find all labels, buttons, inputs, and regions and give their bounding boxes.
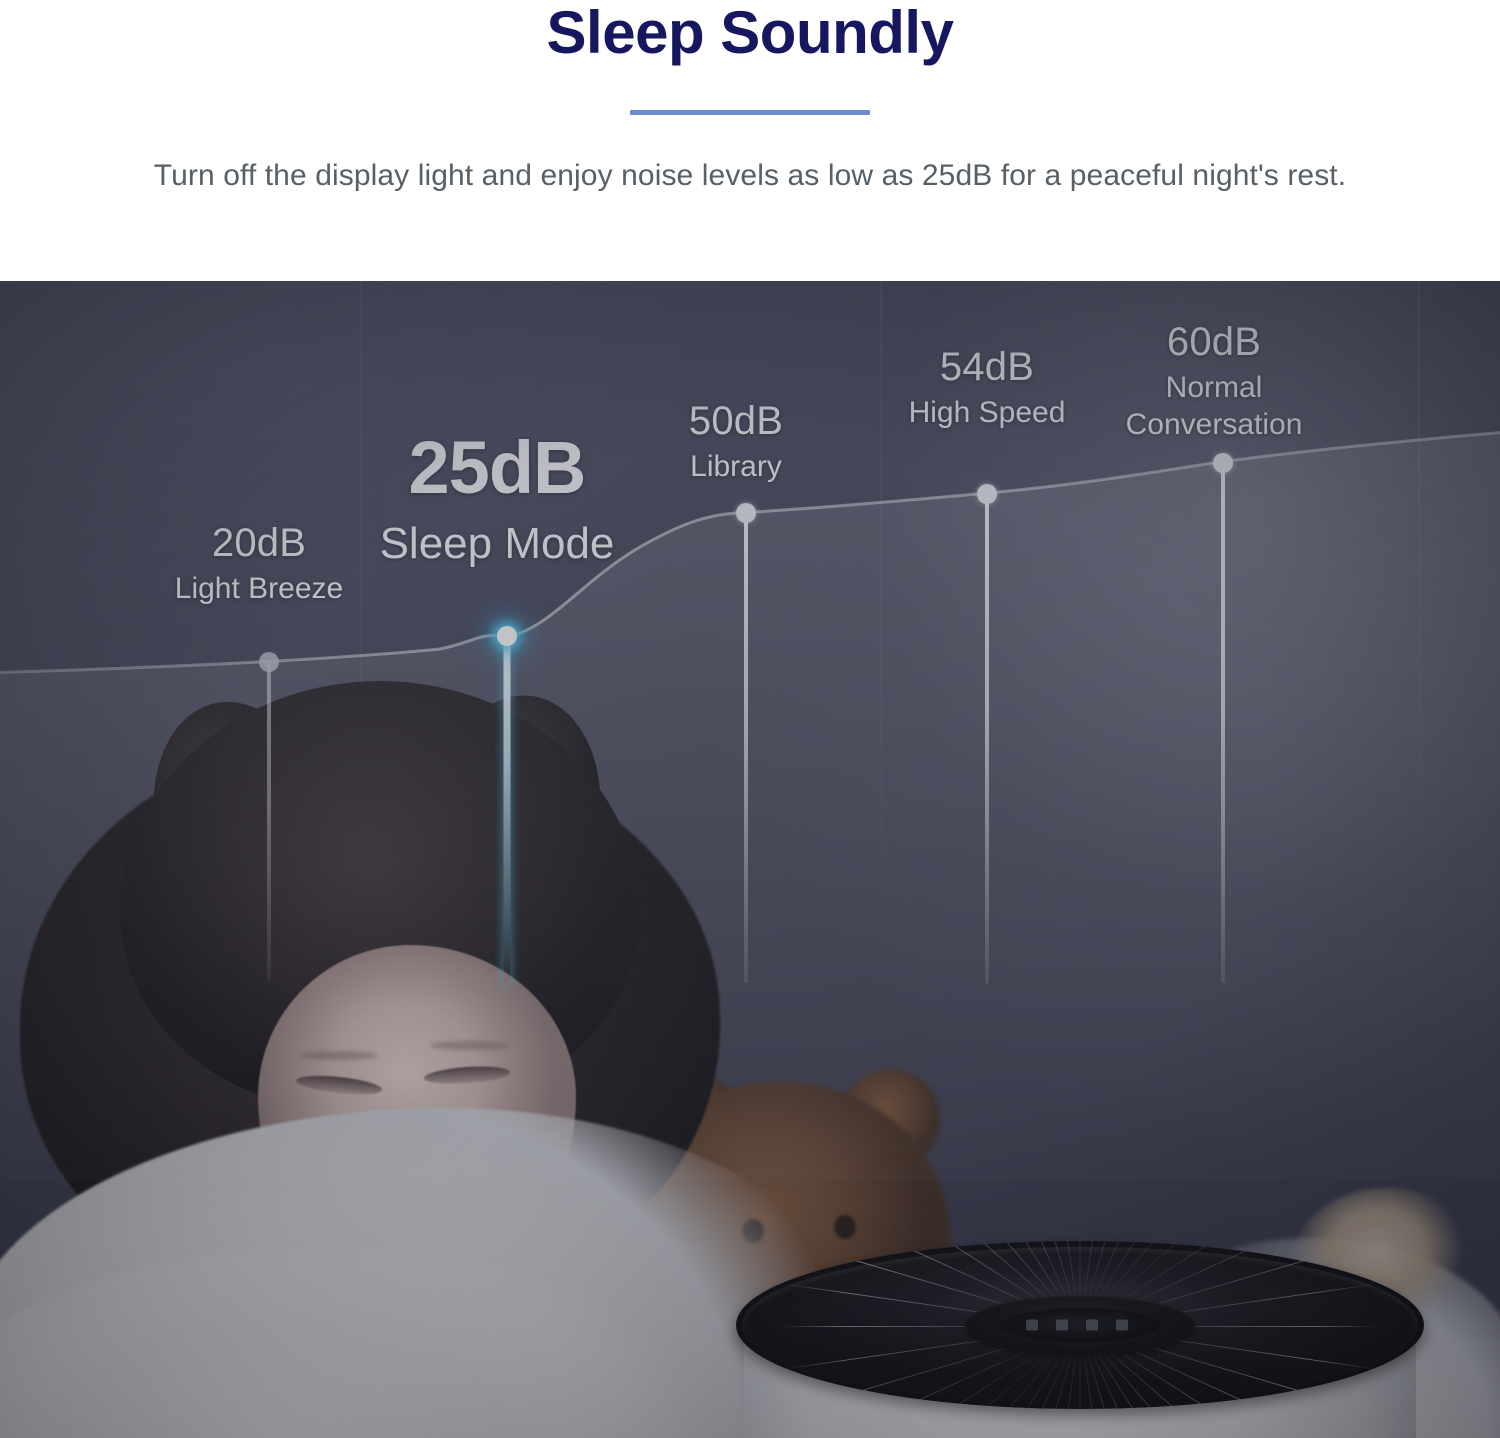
marker-25db-sleep-mode — [497, 636, 517, 986]
marker-50db — [736, 513, 756, 983]
baby-eyebrow-left — [300, 1051, 378, 1060]
teddy-bear-eye-right — [834, 1215, 856, 1239]
label-20db-value: 20dB — [159, 522, 359, 564]
purifier-control-panel — [965, 1295, 1195, 1355]
page-subtitle: Turn off the display light and enjoy noi… — [150, 152, 1350, 200]
air-purifier: levoit — [736, 1241, 1426, 1438]
marker-stem — [1221, 463, 1225, 983]
marker-stem-glow — [504, 636, 511, 986]
marker-stem — [267, 662, 271, 982]
label-60db-name: Normal Conversation — [1098, 370, 1330, 443]
marker-stem — [985, 494, 989, 984]
baby-eyebrow-right — [430, 1041, 508, 1050]
marker-dot — [259, 652, 279, 672]
label-50db-value: 50dB — [636, 400, 836, 442]
marker-dot — [736, 503, 756, 523]
filter-reset-icon[interactable] — [1116, 1320, 1128, 1331]
sleep-soundly-banner: Sleep Soundly Turn off the display light… — [0, 0, 1500, 1438]
purifier-top-vent — [736, 1241, 1424, 1409]
label-25db-name: Sleep Mode — [337, 517, 657, 571]
marker-dot — [977, 484, 997, 504]
label-60db: 60dB Normal Conversation — [1098, 321, 1330, 444]
header-section: Sleep Soundly Turn off the display light… — [0, 0, 1500, 281]
label-20db: 20dB Light Breeze — [159, 522, 359, 608]
label-25db-value: 25dB — [337, 429, 657, 507]
label-54db: 54dB High Speed — [887, 346, 1087, 432]
marker-20db — [259, 662, 279, 982]
timer-icon[interactable] — [1086, 1320, 1098, 1331]
purifier-control-inner — [1000, 1308, 1160, 1342]
power-icon[interactable] — [1026, 1320, 1038, 1331]
fan-speed-icon[interactable] — [1056, 1320, 1068, 1331]
marker-dot-glow — [497, 626, 517, 646]
marker-stem — [744, 513, 748, 983]
label-60db-value: 60dB — [1098, 321, 1330, 363]
marker-dot — [1213, 453, 1233, 473]
title-divider — [630, 110, 870, 115]
page-title: Sleep Soundly — [0, 0, 1500, 68]
label-50db-name: Library — [636, 449, 836, 486]
label-25db-sleep-mode: 25dB Sleep Mode — [337, 429, 657, 571]
label-54db-value: 54dB — [887, 346, 1087, 388]
hero-photo: 20dB Light Breeze 25dB Sleep Mode 50dB L… — [0, 281, 1500, 1438]
marker-60db — [1213, 463, 1233, 983]
label-20db-name: Light Breeze — [159, 571, 359, 608]
purifier-vent-rim — [742, 1247, 1418, 1403]
label-50db: 50dB Library — [636, 400, 836, 486]
marker-54db — [977, 494, 997, 984]
label-54db-name: High Speed — [887, 395, 1087, 432]
